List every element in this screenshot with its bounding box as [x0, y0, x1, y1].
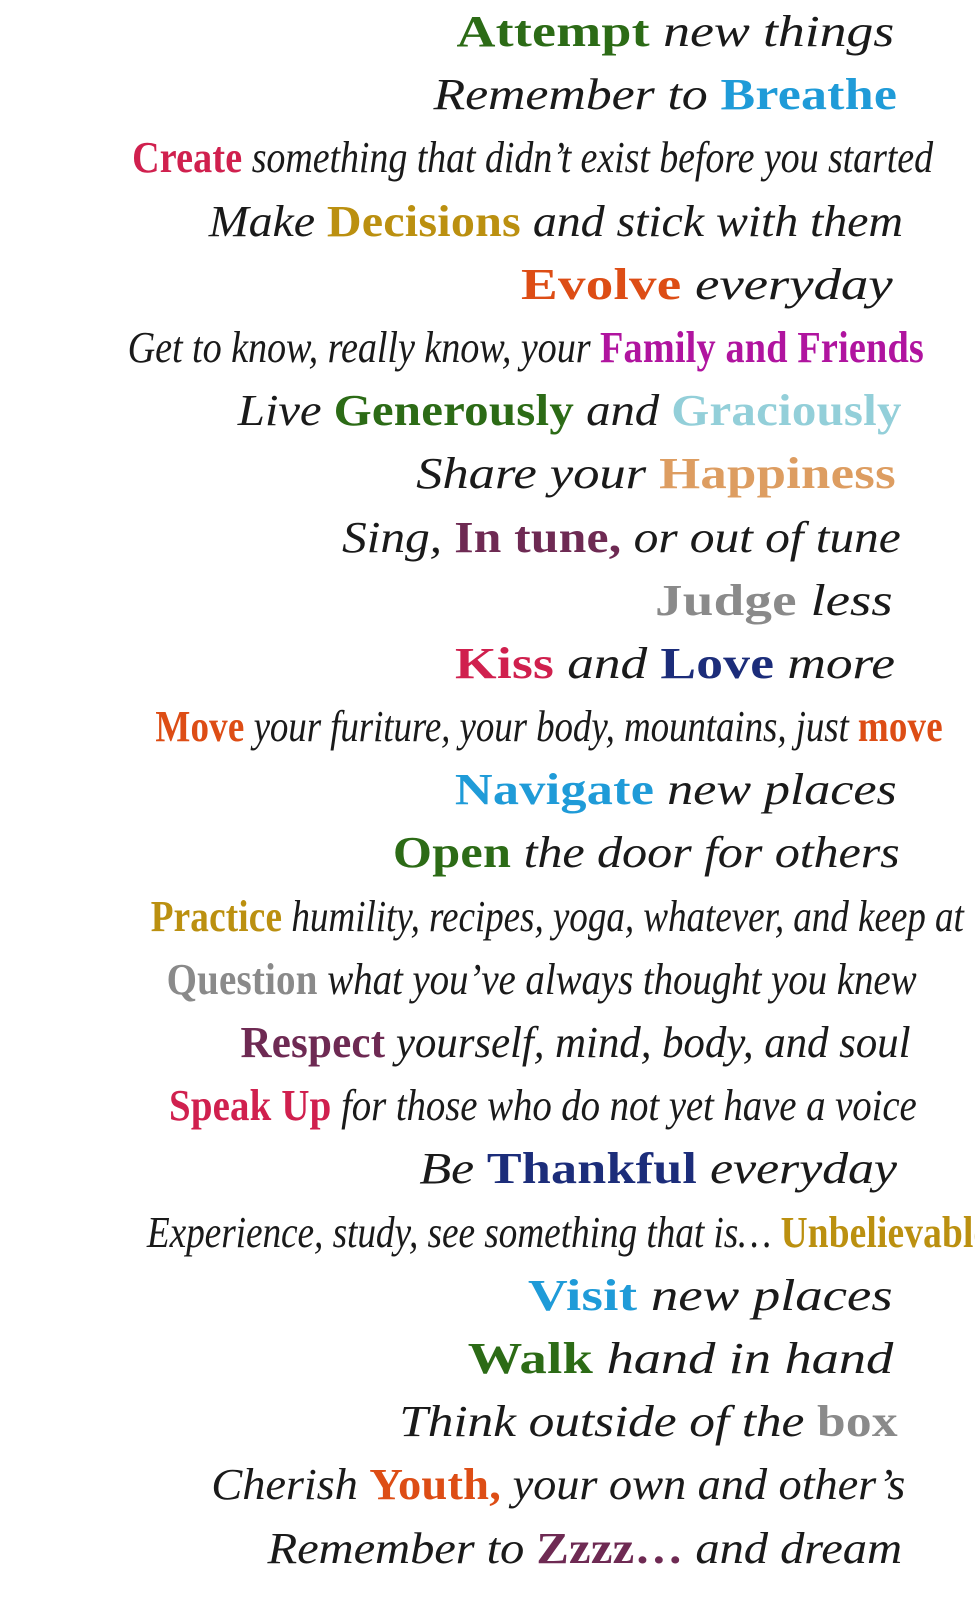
keyword-text: Love — [660, 639, 774, 688]
keyword-text: Decisions — [327, 197, 521, 246]
body-text: your furiture, your body, mountains, jus… — [244, 702, 858, 751]
keyword-text: Attempt — [456, 7, 649, 56]
body-text: Sing, — [342, 513, 454, 562]
keyword-text: Practice — [151, 892, 282, 941]
intention-line-e: Evolve everyday — [0, 253, 975, 316]
keyword-text: Unbelievable — [781, 1208, 975, 1257]
keyword-text: Youth, — [369, 1460, 501, 1509]
intention-line-i: Sing, In tune, or out of tune — [0, 506, 975, 569]
body-text: more — [774, 639, 895, 688]
intention-line-s: Speak Up for those who do not yet have a… — [113, 1074, 975, 1137]
intention-line-r: Respect yourself, mind, body, and soul — [22, 1011, 975, 1074]
body-text: humility, recipes, yoga, whatever, and k… — [282, 892, 975, 941]
intention-line-n: Navigate new places — [0, 758, 975, 821]
body-text: what you’ve always thought you knew — [318, 955, 917, 1004]
keyword-text: Question — [167, 955, 318, 1004]
intention-line-z: Remember to Zzzz… and dream — [0, 1517, 975, 1580]
poster-canvas: Attempt new thingsRemember to BreatheCre… — [0, 0, 975, 1624]
body-text: Remember to — [267, 1524, 536, 1573]
intention-line-q: Question what you’ve always thought you … — [111, 948, 975, 1011]
intention-line-t: Be Thankful everyday — [0, 1137, 975, 1200]
body-text: Experience, study, see something that is… — [147, 1208, 781, 1257]
keyword-text: Open — [393, 828, 511, 877]
body-text: something that didn’t exist before you s… — [242, 133, 933, 182]
intention-line-k: Kiss and Love more — [0, 632, 975, 695]
body-text: your own and other’s — [501, 1460, 905, 1509]
keyword-text: Speak Up — [169, 1081, 331, 1130]
body-text: Make — [209, 197, 327, 246]
body-text: Live — [238, 386, 334, 435]
intention-line-f: Get to know, really know, your Family an… — [128, 316, 975, 379]
intention-line-y: Cherish Youth, your own and other’s — [0, 1453, 975, 1516]
keyword-text: Thankful — [487, 1144, 697, 1193]
intention-line-j: Judge less — [0, 569, 975, 632]
body-text: and stick with them — [521, 197, 903, 246]
intention-line-u: Experience, study, see something that is… — [147, 1201, 975, 1264]
body-text: new things — [650, 7, 894, 56]
body-text: everyday — [681, 260, 892, 309]
keyword-text: Zzzz… — [536, 1524, 683, 1573]
intention-line-o: Open the door for others — [0, 821, 975, 884]
keyword-text: Walk — [468, 1334, 593, 1383]
body-text: or out of tune — [621, 513, 900, 562]
intention-line-a: Attempt new things — [0, 0, 975, 63]
body-text: less — [797, 576, 893, 625]
keyword-text: Family and Friends — [600, 323, 924, 372]
body-text: new places — [654, 765, 896, 814]
body-text: Share your — [416, 449, 659, 498]
keyword-text: Respect — [240, 1018, 385, 1067]
intentions-list: Attempt new thingsRemember to BreatheCre… — [0, 0, 975, 1624]
intention-line-w: Walk hand in hand — [0, 1327, 975, 1390]
keyword-text: move — [858, 702, 943, 751]
keyword-text: Breathe — [720, 70, 897, 119]
keyword-text: Move — [155, 702, 244, 751]
body-text: the door for others — [511, 828, 900, 877]
intention-line-b: Remember to Breathe — [0, 63, 975, 126]
body-text: Be — [419, 1144, 487, 1193]
keyword-text: box — [817, 1397, 898, 1446]
keyword-text: In tune, — [454, 513, 621, 562]
intention-line-p: Practice humility, recipes, yoga, whatev… — [151, 885, 975, 948]
body-text: everyday — [697, 1144, 897, 1193]
keyword-text: Navigate — [455, 765, 654, 814]
intention-line-d: Make Decisions and stick with them — [0, 190, 975, 253]
body-text: and — [574, 386, 671, 435]
keyword-text: Graciously — [671, 386, 901, 435]
keyword-text: Generously — [334, 386, 574, 435]
intention-line-c: Create something that didn’t exist befor… — [132, 126, 975, 189]
intention-line-v: Visit new places — [0, 1264, 975, 1327]
body-text: and — [554, 639, 660, 688]
intention-line-x: Think outside of the box — [0, 1390, 975, 1453]
body-text: Think outside of the — [399, 1397, 817, 1446]
body-text: Remember to — [434, 70, 721, 119]
keyword-text: Evolve — [521, 260, 681, 309]
body-text: Cherish — [211, 1460, 369, 1509]
intention-line-g: Live Generously and Graciously — [0, 379, 975, 442]
body-text: and dream — [683, 1524, 902, 1573]
keyword-text: Judge — [655, 576, 797, 625]
keyword-text: Create — [132, 133, 242, 182]
body-text: hand in hand — [593, 1334, 893, 1383]
body-text: for those who do not yet have a voice — [331, 1081, 916, 1130]
body-text: yourself, mind, body, and soul — [385, 1018, 910, 1067]
keyword-text: Kiss — [455, 639, 554, 688]
body-text: Get to know, really know, your — [128, 323, 600, 372]
body-text: new places — [637, 1271, 892, 1320]
intention-line-m: Move your furiture, your body, mountains… — [155, 695, 975, 758]
intention-line-h: Share your Happiness — [0, 442, 975, 505]
keyword-text: Happiness — [659, 449, 896, 498]
keyword-text: Visit — [528, 1271, 637, 1320]
